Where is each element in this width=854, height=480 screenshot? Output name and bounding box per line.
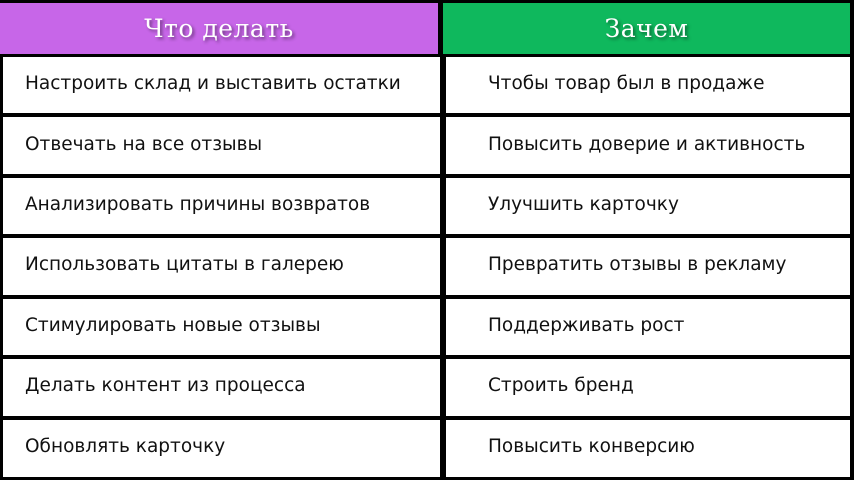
table-row: Стимулировать новые отзывы Поддерживать … <box>0 299 854 359</box>
cell-reason: Строить бренд <box>443 359 854 419</box>
cell-reason: Поддерживать рост <box>443 299 854 359</box>
cell-reason: Повысить конверсию <box>443 420 854 480</box>
table-row: Обновлять карточку Повысить конверсию <box>0 420 854 480</box>
column-header-action: Что делать <box>0 0 443 57</box>
column-header-reason: Зачем <box>443 0 854 57</box>
cell-reason: Улучшить карточку <box>443 178 854 238</box>
table-header-row: Что делать Зачем <box>0 0 854 57</box>
cell-reason: Чтобы товар был в продаже <box>443 57 854 117</box>
table-row: Использовать цитаты в галерею Превратить… <box>0 238 854 298</box>
table-row: Анализировать причины возвратов Улучшить… <box>0 178 854 238</box>
cell-action: Анализировать причины возвратов <box>0 178 443 238</box>
table-row: Отвечать на все отзывы Повысить доверие … <box>0 117 854 177</box>
cell-action: Обновлять карточку <box>0 420 443 480</box>
cell-action: Стимулировать новые отзывы <box>0 299 443 359</box>
cell-reason: Повысить доверие и активность <box>443 117 854 177</box>
comparison-table: Что делать Зачем Настроить склад и выста… <box>0 0 854 480</box>
table-header: Что делать Зачем <box>0 0 854 57</box>
comparison-table-container: Что делать Зачем Настроить склад и выста… <box>0 0 854 480</box>
cell-action: Настроить склад и выставить остатки <box>0 57 443 117</box>
table-row: Делать контент из процесса Строить бренд <box>0 359 854 419</box>
table-row: Настроить склад и выставить остатки Чтоб… <box>0 57 854 117</box>
cell-action: Отвечать на все отзывы <box>0 117 443 177</box>
cell-action: Использовать цитаты в галерею <box>0 238 443 298</box>
cell-action: Делать контент из процесса <box>0 359 443 419</box>
cell-reason: Превратить отзывы в рекламу <box>443 238 854 298</box>
table-body: Настроить склад и выставить остатки Чтоб… <box>0 57 854 480</box>
